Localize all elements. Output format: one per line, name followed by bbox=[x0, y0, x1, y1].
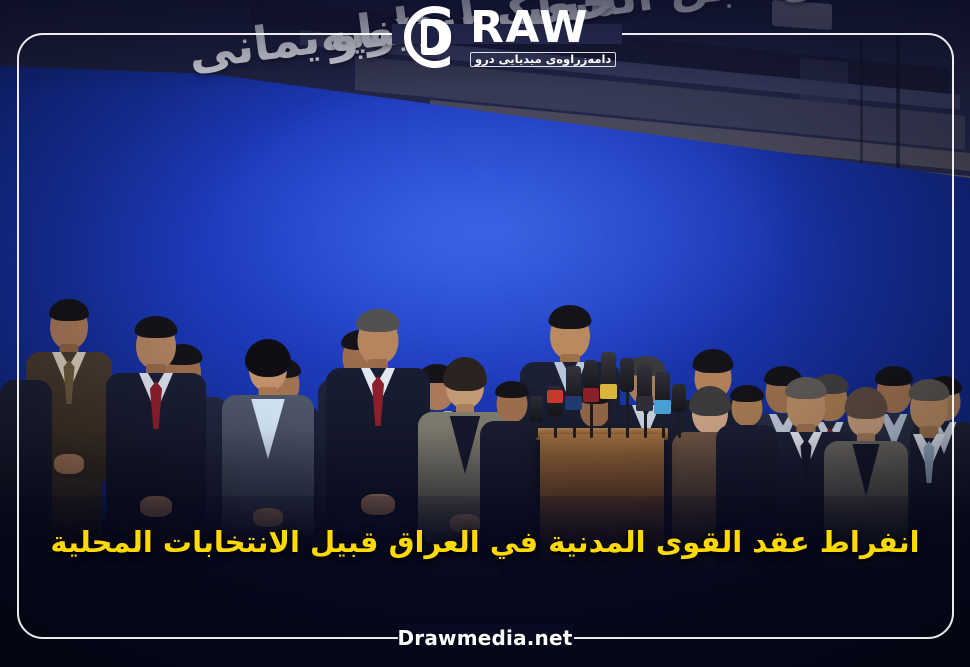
footer: Drawmedia.net bbox=[0, 628, 970, 649]
logo-letter-d bbox=[421, 19, 451, 55]
headline: انفراط عقد القوى المدنية في العراق قبيل … bbox=[40, 524, 930, 560]
news-card: تحالف من اجل الشعب - هاوپەیمانی خەڵکـ لە… bbox=[0, 0, 970, 667]
logo-letter-d-counter bbox=[427, 26, 439, 48]
draw-circle-d-icon bbox=[404, 6, 466, 68]
logo-subtitle-kurdish: دامەزراوەی میدیایی درو bbox=[470, 52, 616, 67]
draw-logo[interactable]: RAW دامەزراوەی میدیایی درو bbox=[404, 4, 630, 70]
logo-wordmark: RAW bbox=[470, 7, 616, 49]
logo-text-block: RAW دامەزراوەی میدیایی درو bbox=[470, 7, 616, 66]
vignette-overlay bbox=[0, 0, 970, 667]
press-conference-photo: تحالف من اجل الشعب - هاوپەیمانی خەڵکـ لە… bbox=[0, 0, 970, 667]
footer-url[interactable]: Drawmedia.net bbox=[397, 628, 572, 648]
